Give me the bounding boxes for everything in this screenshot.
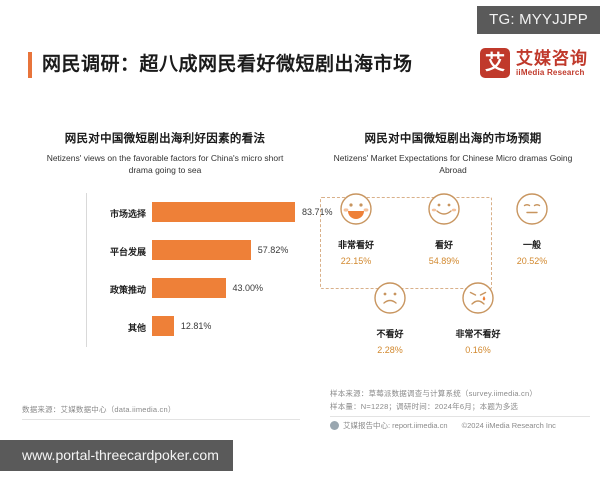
expectation-option: 非常不看好0.16% [434,280,522,355]
very-happy-face-icon [312,191,400,232]
bar-category-label: 其他 [86,321,146,334]
left-chart-panel: 网民对中国微短剧出海利好因素的看法 Netizens' views on the… [20,130,310,353]
bar [152,202,295,222]
option-label: 不看好 [346,327,434,340]
title-group: 网民调研：超八成网民看好微短剧出海市场 [28,52,413,78]
neutral-face-icon [488,191,576,232]
left-footer-divider [22,419,300,420]
expectation-option: 非常看好22.15% [312,191,400,266]
bar-chart: 市场选择83.71%平台发展57.82%政策推动43.00%其他12.81% [20,193,310,353]
bar-row: 其他12.81% [86,307,310,345]
right-chart-panel: 网民对中国微短剧出海的市场预期 Netizens' Market Expecta… [312,130,594,391]
bar-value-label: 43.00% [233,283,264,293]
telegram-watermark-badge: TG: MYYJJPP [477,6,600,34]
bar [152,316,174,336]
bar-category-label: 政策推动 [86,283,146,296]
bar [152,278,226,298]
face-row-top: 非常看好22.15%看好54.89%一般20.52% [312,191,594,266]
sad-face-icon [346,280,434,321]
bar [152,240,251,260]
expectation-option: 不看好2.28% [346,280,434,355]
bar-row: 平台发展57.82% [86,231,310,269]
left-chart-title: 网民对中国微短剧出海利好因素的看法 [20,130,310,146]
right-chart-subtitle: Netizens' Market Expectations for Chines… [312,152,594,177]
brand-text: 艾媒咨询 iiMedia Research [516,50,588,77]
bar-category-label: 平台发展 [86,245,146,258]
expectation-option: 一般20.52% [488,191,576,266]
right-chart-title: 网民对中国微短剧出海的市场预期 [312,130,594,146]
brand-mark-icon: 艾 [480,48,510,78]
brand-name-cn: 艾媒咨询 [516,50,588,67]
brand-logo: 艾 艾媒咨询 iiMedia Research [480,48,588,78]
bar-category-label: 市场选择 [86,207,146,220]
url-watermark-bar: www.portal-threecardpoker.com [0,440,233,471]
expectation-faces: 非常看好22.15%看好54.89%一般20.52% 不看好2.28%非常不看好… [312,191,594,391]
sample-source-text: 样本来源：草莓派数据调查与计算系统（survey.iimedia.cn） [330,388,537,401]
infographic-page: TG: MYYJJPP 网民调研：超八成网民看好微短剧出海市场 艾 艾媒咨询 i… [0,0,600,480]
option-label: 非常不看好 [434,327,522,340]
option-percentage: 54.89% [400,256,488,266]
option-label: 非常看好 [312,238,400,251]
bar-value-label: 12.81% [181,321,212,331]
option-percentage: 22.15% [312,256,400,266]
page-title: 网民调研：超八成网民看好微短剧出海市场 [42,52,413,78]
right-footer-source: 样本来源：草莓派数据调查与计算系统（survey.iimedia.cn） 样本量… [330,388,537,414]
brand-name-en: iiMedia Research [516,69,588,77]
bar-value-label: 57.82% [258,245,289,255]
right-footer-divider [330,416,590,417]
crying-face-icon [434,280,522,321]
option-percentage: 0.16% [434,345,522,355]
expectation-option: 看好54.89% [400,191,488,266]
sample-size-text: 样本量：N=1228；调研时间：2024年6月；本题为多选 [330,401,537,414]
bar-row: 市场选择83.71% [86,193,310,231]
bar-row: 政策推动43.00% [86,269,310,307]
option-label: 一般 [488,238,576,251]
report-center-text: 艾媒报告中心: report.iimedia.cn [343,420,448,431]
page-header: 网民调研：超八成网民看好微短剧出海市场 艾 艾媒咨询 iiMedia Resea… [0,52,600,98]
left-chart-subtitle: Netizens' views on the favorable factors… [20,152,310,177]
option-label: 看好 [400,238,488,251]
copyright-text: ©2024 iiMedia Research Inc [462,421,556,430]
face-row-bottom: 不看好2.28%非常不看好0.16% [312,280,594,355]
option-percentage: 20.52% [488,256,576,266]
globe-icon [330,421,339,430]
title-accent-bar [28,52,32,78]
option-percentage: 2.28% [346,345,434,355]
report-center-line: 艾媒报告中心: report.iimedia.cn ©2024 iiMedia … [330,420,556,431]
left-footer-source: 数据来源：艾媒数据中心（data.iimedia.cn） [22,404,176,417]
happy-face-icon [400,191,488,232]
